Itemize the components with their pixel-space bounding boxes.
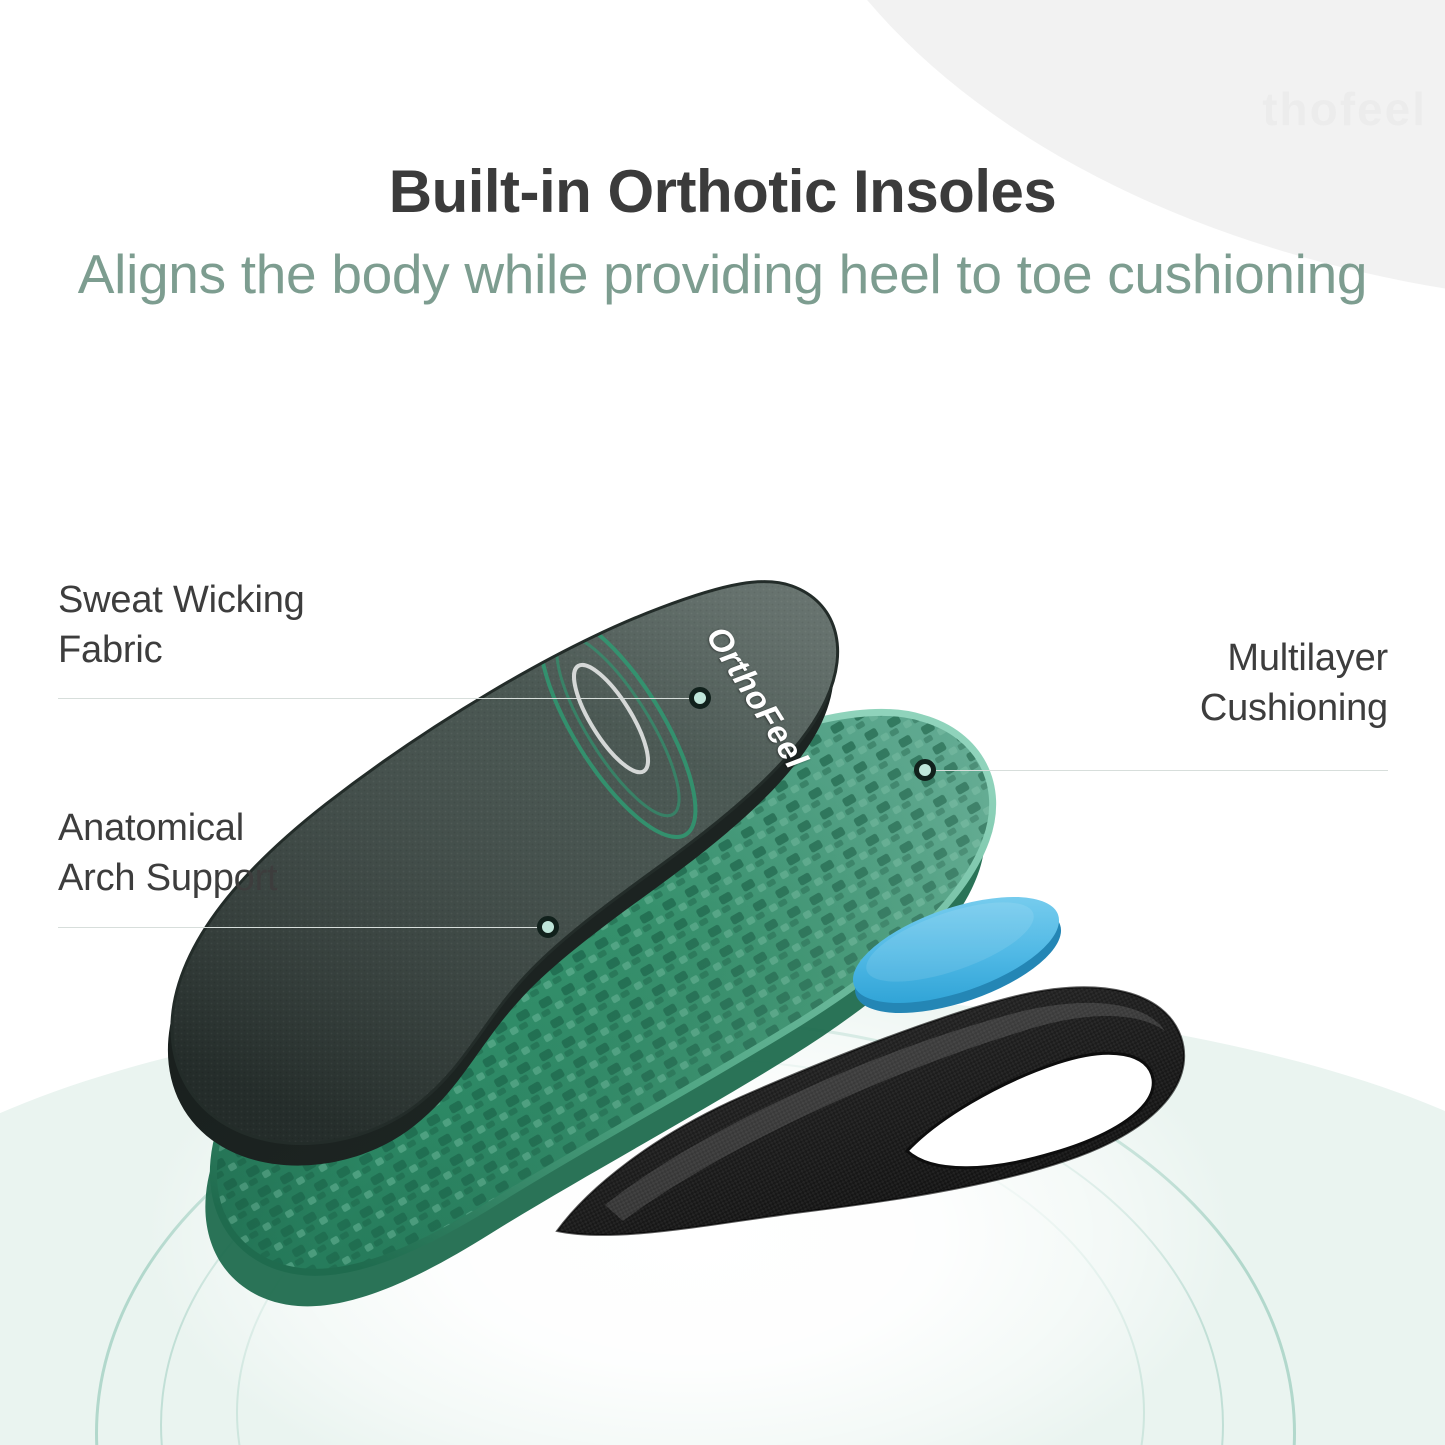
leader-dot-anatomical-arch-support	[537, 916, 559, 938]
callout-label-multilayer-cushioning: Multilayer Cushioning	[925, 633, 1388, 733]
callout-multilayer-cushioning: Multilayer Cushioning	[925, 633, 1388, 733]
callout-label-anatomical-arch-support: Anatomical Arch Support	[58, 803, 698, 903]
leader-dot-multilayer-cushioning	[914, 759, 936, 781]
leader-line-anatomical-arch-support	[58, 927, 548, 928]
leader-dot-sweat-wicking-fabric	[689, 687, 711, 709]
leader-line-sweat-wicking-fabric	[58, 698, 700, 699]
callout-anatomical-arch-support: Anatomical Arch Support	[58, 803, 698, 903]
marketing-infographic: thofeel Built-in Orthotic Insoles Aligns…	[0, 0, 1445, 1445]
leader-line-multilayer-cushioning	[936, 770, 1388, 771]
callout-label-sweat-wicking-fabric: Sweat Wicking Fabric	[58, 575, 698, 675]
callout-sweat-wicking-fabric: Sweat Wicking Fabric	[58, 575, 698, 675]
black-arch-shell	[545, 955, 1195, 1255]
